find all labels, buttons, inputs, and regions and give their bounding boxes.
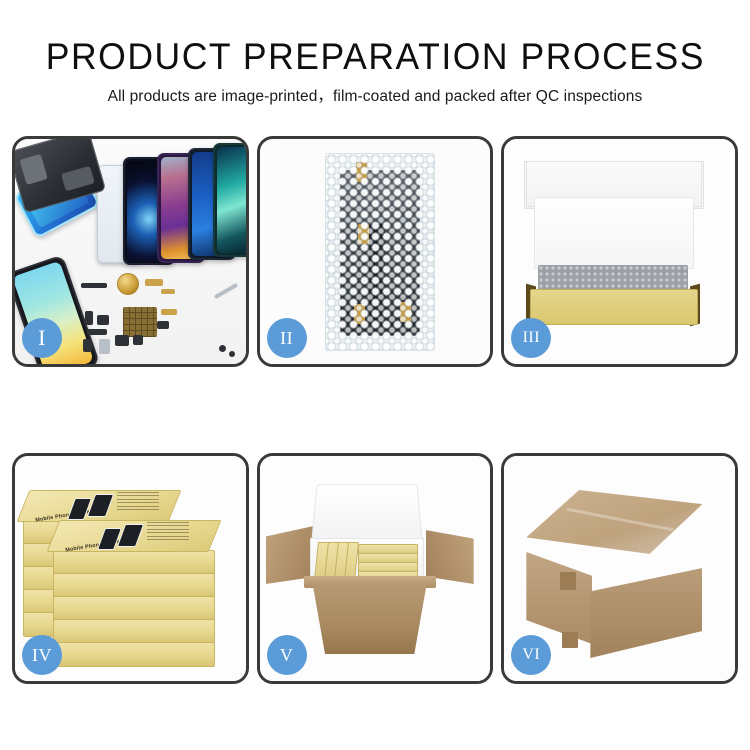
step-panel-5[interactable]: V bbox=[257, 453, 494, 684]
box-stack-image: Mobile Phone Spare Parts Mobile Phone Sp… bbox=[23, 486, 233, 662]
step-badge-5: V bbox=[267, 635, 307, 675]
box-print-text-lines bbox=[147, 522, 189, 542]
small-part-image bbox=[157, 321, 169, 329]
step-panel-1[interactable]: I bbox=[12, 136, 249, 367]
small-part-image bbox=[87, 329, 107, 335]
carton-body-image bbox=[308, 584, 432, 654]
small-part-image bbox=[85, 311, 93, 325]
stacked-box-image bbox=[53, 642, 215, 667]
step-panel-6[interactable]: VI bbox=[501, 453, 738, 684]
step-badge-1: I bbox=[22, 318, 62, 358]
step-panel-4[interactable]: Mobile Phone Spare Parts Mobile Phone Sp… bbox=[12, 453, 249, 684]
bubble-texture-image bbox=[326, 154, 434, 350]
small-part-image bbox=[83, 339, 92, 352]
stacked-box-image bbox=[53, 596, 215, 621]
header: PRODUCT PREPARATION PROCESS All products… bbox=[0, 0, 750, 128]
screw-image bbox=[229, 351, 235, 357]
stacked-box-image bbox=[53, 550, 215, 575]
small-part-image bbox=[99, 339, 110, 354]
small-part-image bbox=[161, 309, 177, 315]
step-badge-2: II bbox=[267, 318, 307, 358]
grey-bubble-wrap-image bbox=[538, 265, 688, 291]
yellow-box-front-image bbox=[530, 289, 698, 325]
phone-screen-teal-image bbox=[213, 143, 246, 257]
chip-grid-part-image bbox=[123, 307, 157, 337]
step-panel-3[interactable]: III bbox=[501, 136, 738, 367]
small-part-image bbox=[81, 283, 107, 288]
carton-tape-patch-image bbox=[562, 632, 578, 648]
white-foam-sheet-image bbox=[534, 197, 694, 269]
bubble-wrap-bag-image bbox=[325, 153, 435, 351]
small-part-image bbox=[145, 279, 163, 286]
box-print-text-lines bbox=[117, 492, 159, 512]
stacked-box-image bbox=[53, 573, 215, 598]
stacked-box-image bbox=[53, 619, 215, 644]
small-part-image bbox=[133, 335, 143, 345]
page-subtitle: All products are image-printed，film-coat… bbox=[108, 89, 643, 105]
carton-tape-patch-image bbox=[560, 572, 576, 590]
foam-lid-image bbox=[311, 484, 423, 543]
process-steps-grid: I II bbox=[12, 136, 738, 684]
small-part-image bbox=[115, 335, 129, 346]
small-part-image bbox=[161, 289, 175, 294]
vibration-motor-part-image bbox=[117, 273, 139, 295]
step-panel-2[interactable]: II bbox=[257, 136, 494, 367]
step-badge-4: IV bbox=[22, 635, 62, 675]
page-title: PRODUCT PREPARATION PROCESS bbox=[45, 38, 704, 75]
screw-image bbox=[219, 345, 226, 352]
small-part-image bbox=[97, 315, 109, 325]
